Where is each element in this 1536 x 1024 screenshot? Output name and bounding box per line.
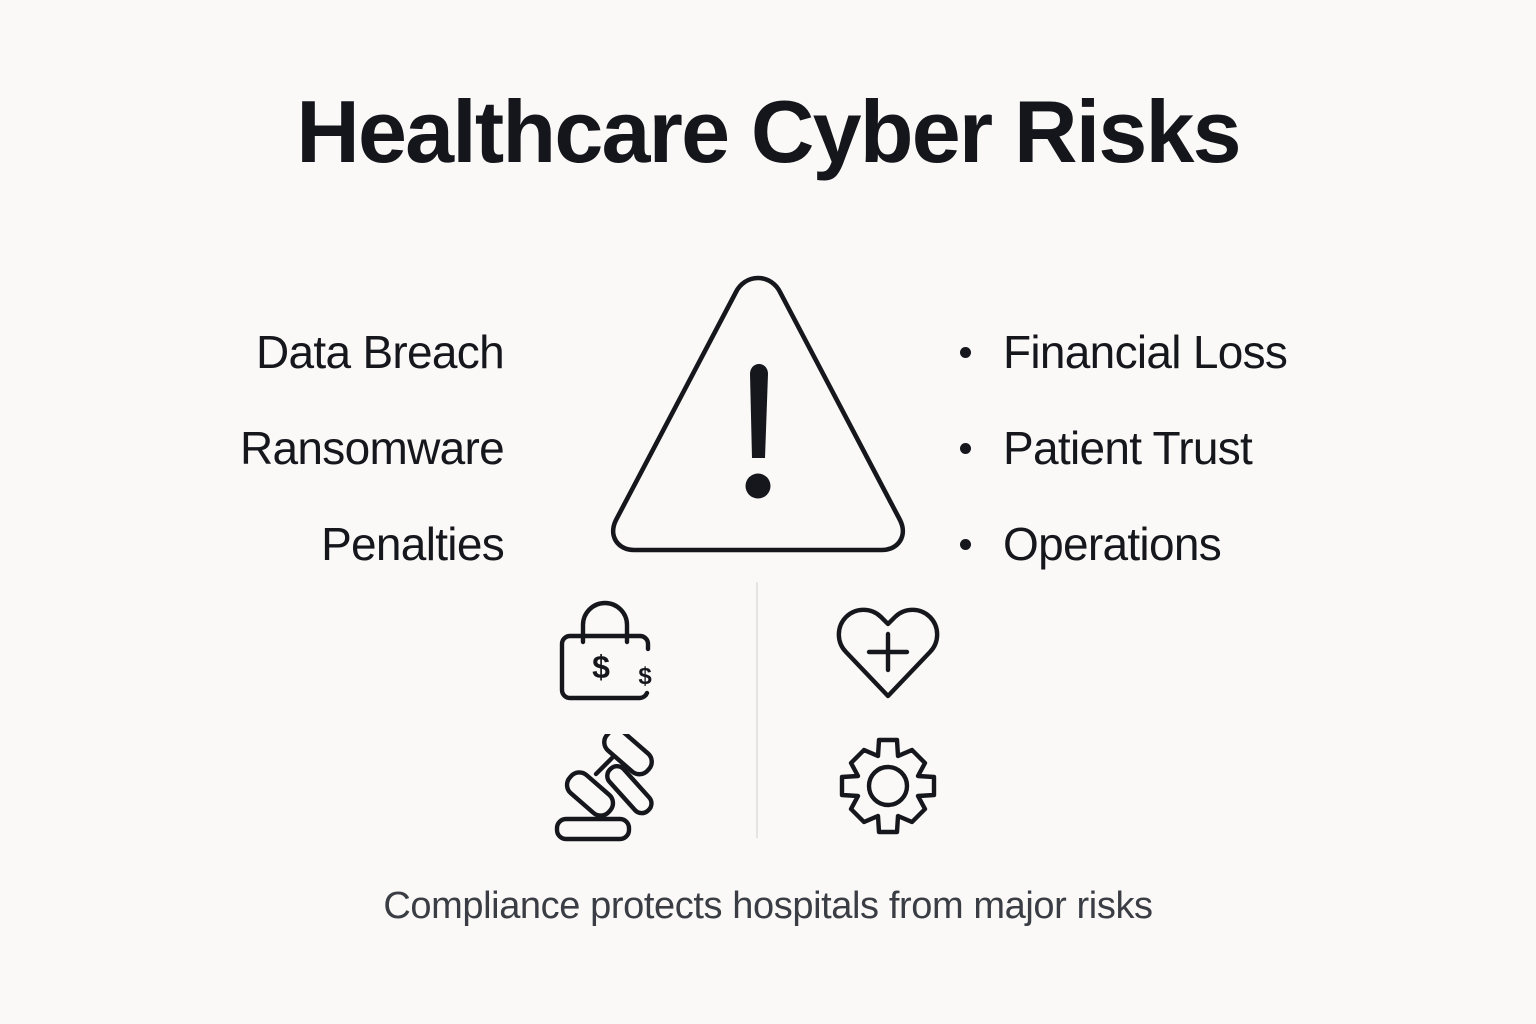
- list-item: Data Breach: [256, 320, 504, 384]
- bullet-icon: [960, 347, 971, 358]
- lock-dollar-icon: $ $: [552, 596, 672, 708]
- caption-text: Compliance protects hospitals from major…: [0, 884, 1536, 930]
- page-title: Healthcare Cyber Risks: [0, 88, 1536, 176]
- gavel-icon: [552, 734, 672, 846]
- threat-label: Ransomware: [240, 425, 504, 471]
- list-item: Patient Trust: [960, 416, 1252, 480]
- impact-label: Financial Loss: [1003, 329, 1287, 375]
- svg-text:$: $: [638, 663, 652, 690]
- slide-canvas: Healthcare Cyber Risks Data Breach Ranso…: [0, 0, 1536, 1024]
- risk-band: Data Breach Ransomware Penalties Financi…: [0, 258, 1536, 570]
- threats-list: Data Breach Ransomware Penalties: [84, 258, 504, 570]
- list-item: Financial Loss: [960, 320, 1287, 384]
- heart-plus-icon: [828, 596, 948, 708]
- list-item: Penalties: [321, 512, 504, 576]
- svg-text:$: $: [592, 649, 610, 685]
- warning-triangle-icon: [592, 258, 924, 570]
- threat-label: Data Breach: [256, 329, 504, 375]
- threat-label: Penalties: [321, 521, 504, 567]
- bullet-icon: [960, 539, 971, 550]
- list-item: Operations: [960, 512, 1221, 576]
- vertical-divider: [756, 582, 758, 838]
- gear-icon: [828, 734, 948, 846]
- impact-label: Patient Trust: [1003, 425, 1252, 471]
- bullet-icon: [960, 443, 971, 454]
- list-item: Ransomware: [240, 416, 504, 480]
- impact-label: Operations: [1003, 521, 1221, 567]
- impacts-list: Financial Loss Patient Trust Operations: [960, 258, 1440, 570]
